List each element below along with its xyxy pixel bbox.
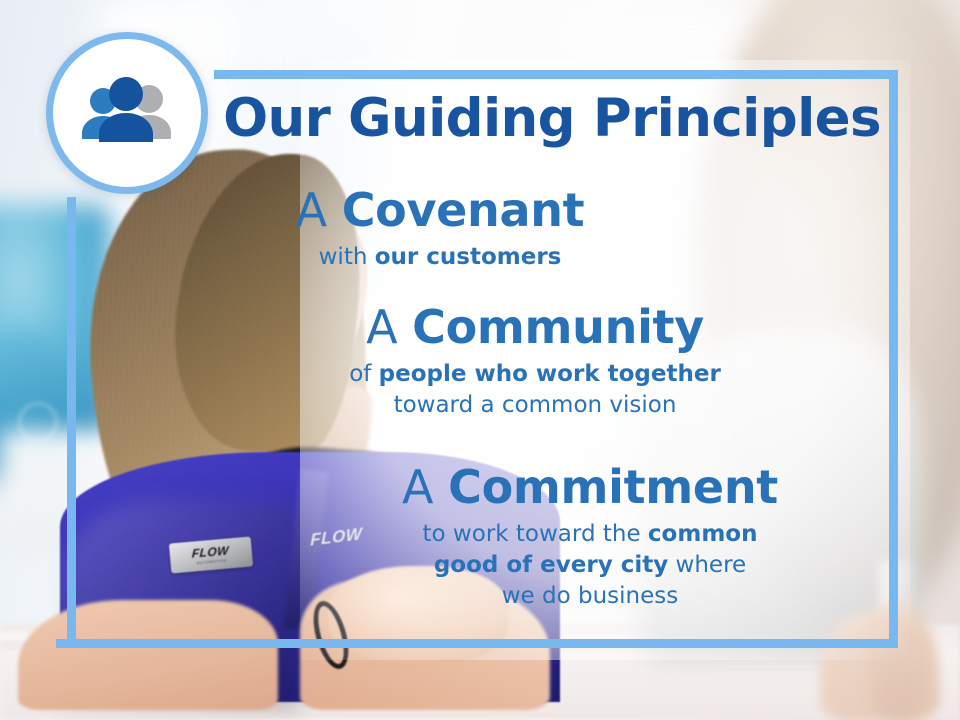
principle-community-keyword: Community [412,300,704,354]
banner-canvas: FLOW AUTOMOTIVE FLOW [0,0,960,720]
principle-commitment-heading: A Commitment [290,463,890,512]
principle-community: A Community of people who work together … [250,303,820,420]
sub-line: with our customers [319,244,562,270]
principle-community-article: A [366,300,397,354]
principle-community-subtext: of people who work together toward a com… [250,359,820,421]
principle-covenant-subtext: with our customers [180,242,700,272]
name-badge-brand: FLOW [192,544,230,559]
customer-fingers [868,600,928,720]
page-title: Our Guiding Principles [214,92,890,146]
employee-left-arm [18,600,278,710]
frame-border-right [889,70,898,648]
frame-border-top [214,70,898,79]
principle-covenant-heading: A Covenant [180,186,700,235]
principles-icon-badge [46,32,208,194]
principle-commitment-subtext: to work toward the common good of every … [290,519,890,613]
principle-covenant-article: A [296,183,327,237]
sub-line: to work toward the common [290,519,890,550]
principle-commitment-keyword: Commitment [448,460,778,514]
people-group-icon [75,77,179,149]
principle-covenant: A Covenant with our customers [180,186,700,272]
sub-line: we do business [290,581,890,612]
principle-community-heading: A Community [250,303,820,352]
frame-border-left [67,197,76,648]
principle-commitment-article: A [402,460,433,514]
sub-line: toward a common vision [250,390,820,421]
principle-commitment: A Commitment to work toward the common g… [290,463,890,613]
sub-line: good of every city where [290,550,890,581]
sub-line: of people who work together [250,359,820,390]
principle-covenant-keyword: Covenant [342,183,585,237]
frame-border-bottom [56,639,898,648]
